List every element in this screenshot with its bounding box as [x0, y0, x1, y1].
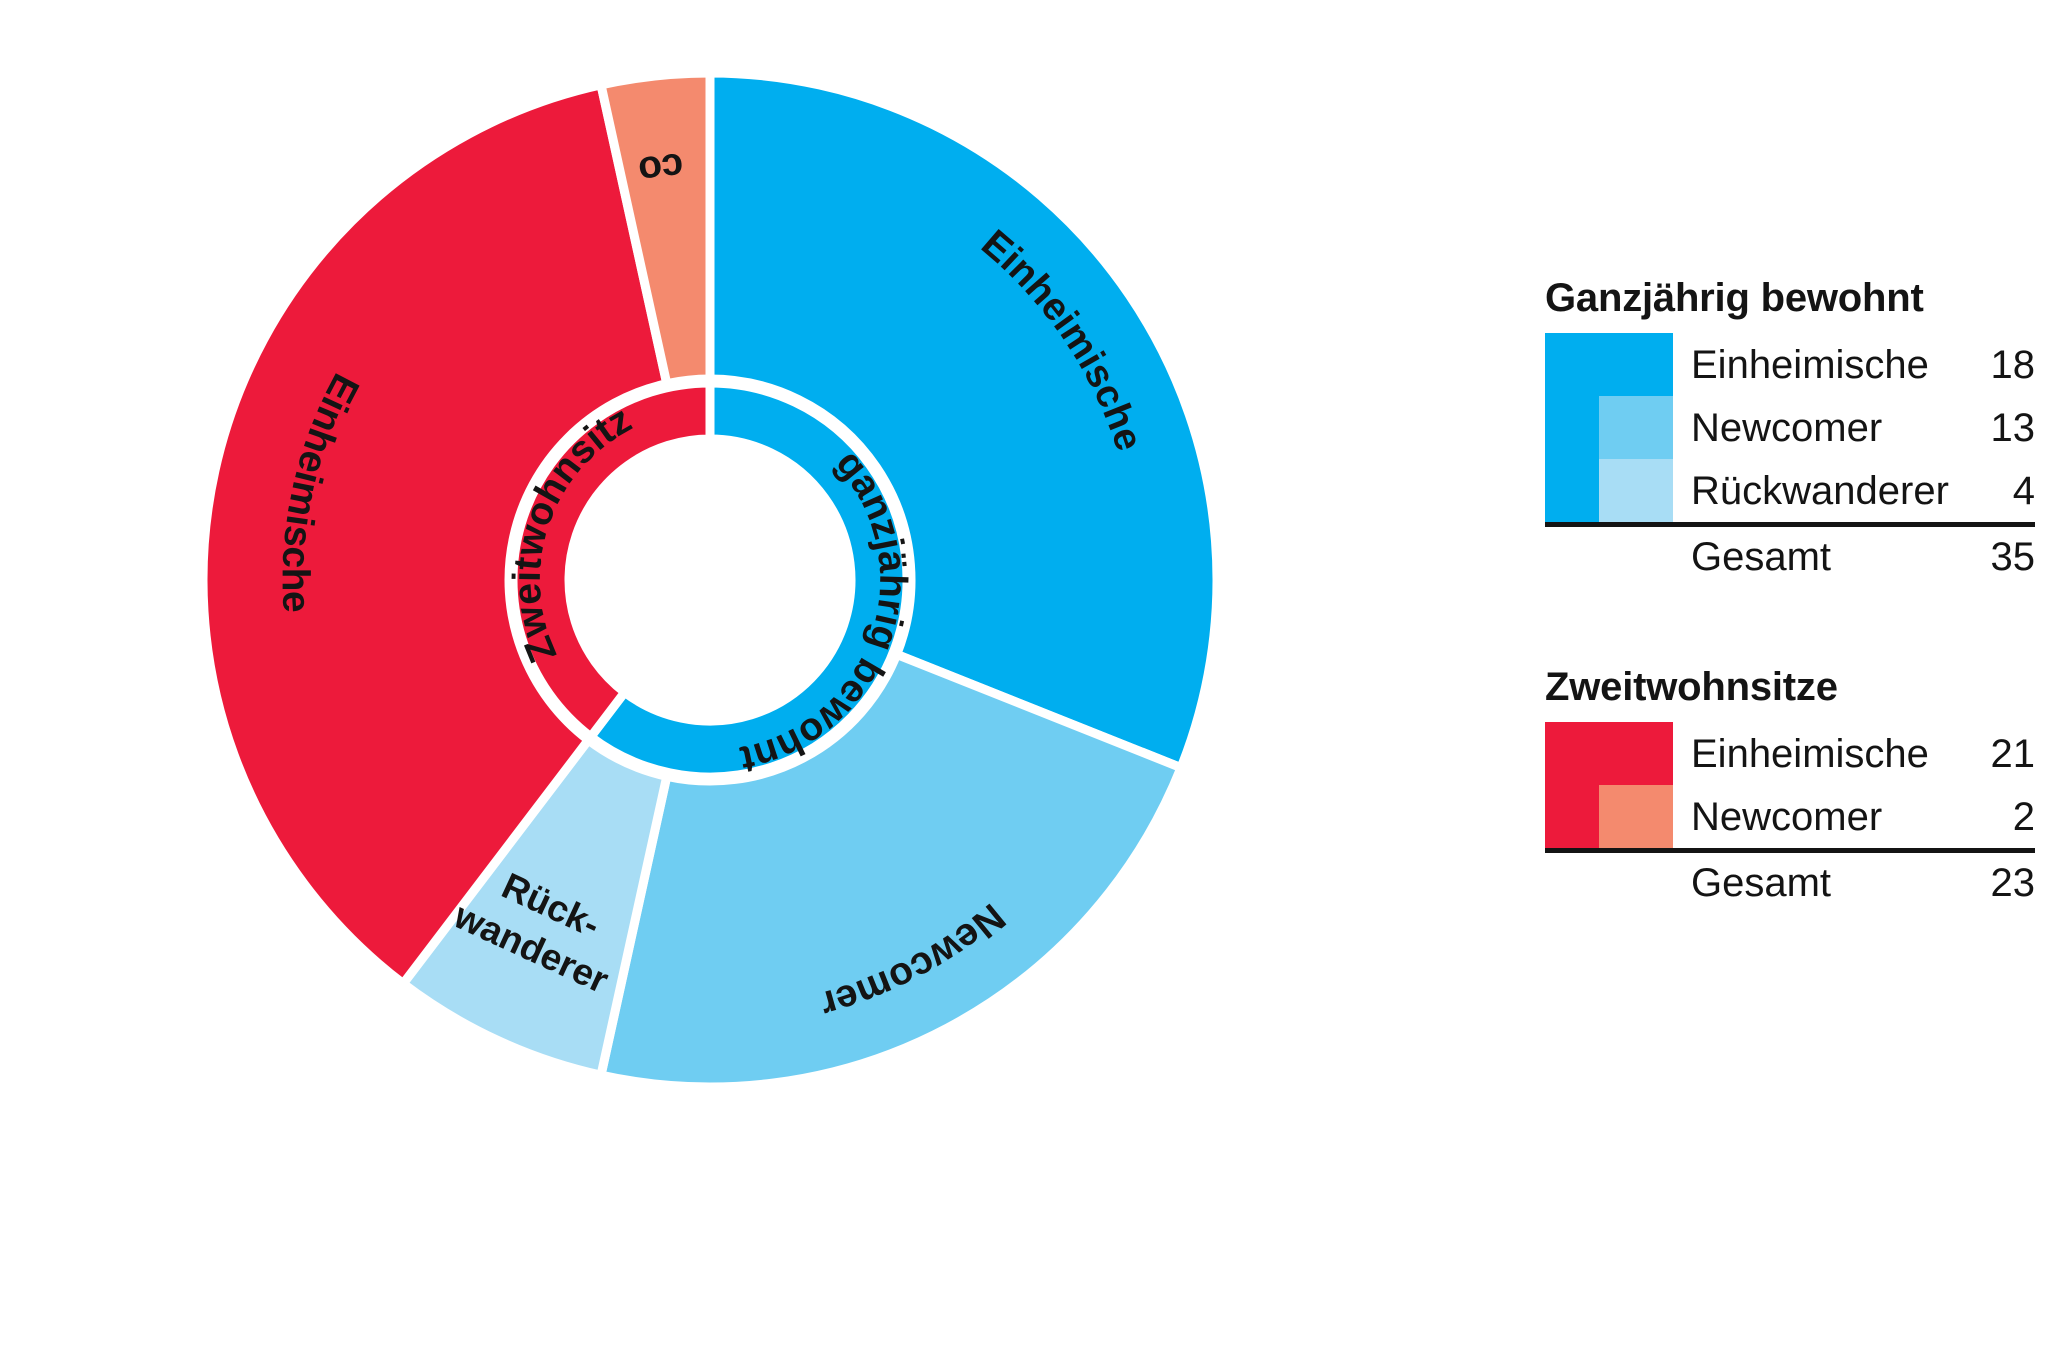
legend-swatch-einheimische-blue: [1545, 333, 1673, 396]
legend-label: Newcomer: [1673, 797, 1973, 837]
legend-label: Einheimische: [1673, 734, 1973, 774]
outer-ring: [203, 73, 1217, 1087]
legend-swatch-newcomer-blue: [1545, 396, 1673, 459]
legend-value: 13: [1973, 408, 2035, 448]
legend-total-row: Gesamt 35: [1545, 527, 2035, 587]
legend-swatch-newcomer-red: [1545, 785, 1673, 848]
legend-value: 4: [1973, 471, 2035, 511]
legend-total-value: 35: [1973, 537, 2035, 577]
legend-row[interactable]: Newcomer 13: [1545, 396, 2035, 459]
donut-chart-svg: Einheimische Newcomer Einheimische Newco…: [0, 0, 1440, 1353]
legend-block-ganzjaehrig-bewohnt: Ganzjährig bewohnt Einheimische 18: [1545, 276, 2035, 587]
sunburst-chart: Einheimische Newcomer Einheimische Newco…: [0, 0, 1440, 1353]
legend-swatch-einheimische-red: [1545, 722, 1673, 785]
legend-row[interactable]: Rückwanderer 4: [1545, 459, 2035, 522]
legend-label: Rückwanderer: [1673, 471, 1973, 511]
legend-title-ganzjaehrig-bewohnt: Ganzjährig bewohnt: [1545, 276, 2035, 321]
legend-title-zweitwohnsitze: Zweitwohnsitze: [1545, 665, 2035, 710]
legend-block-zweitwohnsitze: Zweitwohnsitze Einheimische 21 Ne: [1545, 665, 2035, 913]
legend-total-label: Gesamt: [1673, 537, 1973, 577]
legend-total-label: Gesamt: [1673, 863, 1973, 903]
legend-value: 21: [1973, 734, 2035, 774]
legend-row[interactable]: Einheimische 21: [1545, 722, 2035, 785]
legend-row[interactable]: Einheimische 18: [1545, 333, 2035, 396]
legend-swatch-rueckwanderer-blue: [1545, 459, 1673, 522]
legend-row[interactable]: Newcomer 2: [1545, 785, 2035, 848]
chart-legend: Ganzjährig bewohnt Einheimische 18: [1545, 276, 2035, 991]
legend-total-value: 23: [1973, 863, 2035, 903]
legend-total-row: Gesamt 23: [1545, 853, 2035, 913]
legend-value: 2: [1973, 797, 2035, 837]
legend-label: Einheimische: [1673, 345, 1973, 385]
legend-value: 18: [1973, 345, 2035, 385]
legend-label: Newcomer: [1673, 408, 1973, 448]
